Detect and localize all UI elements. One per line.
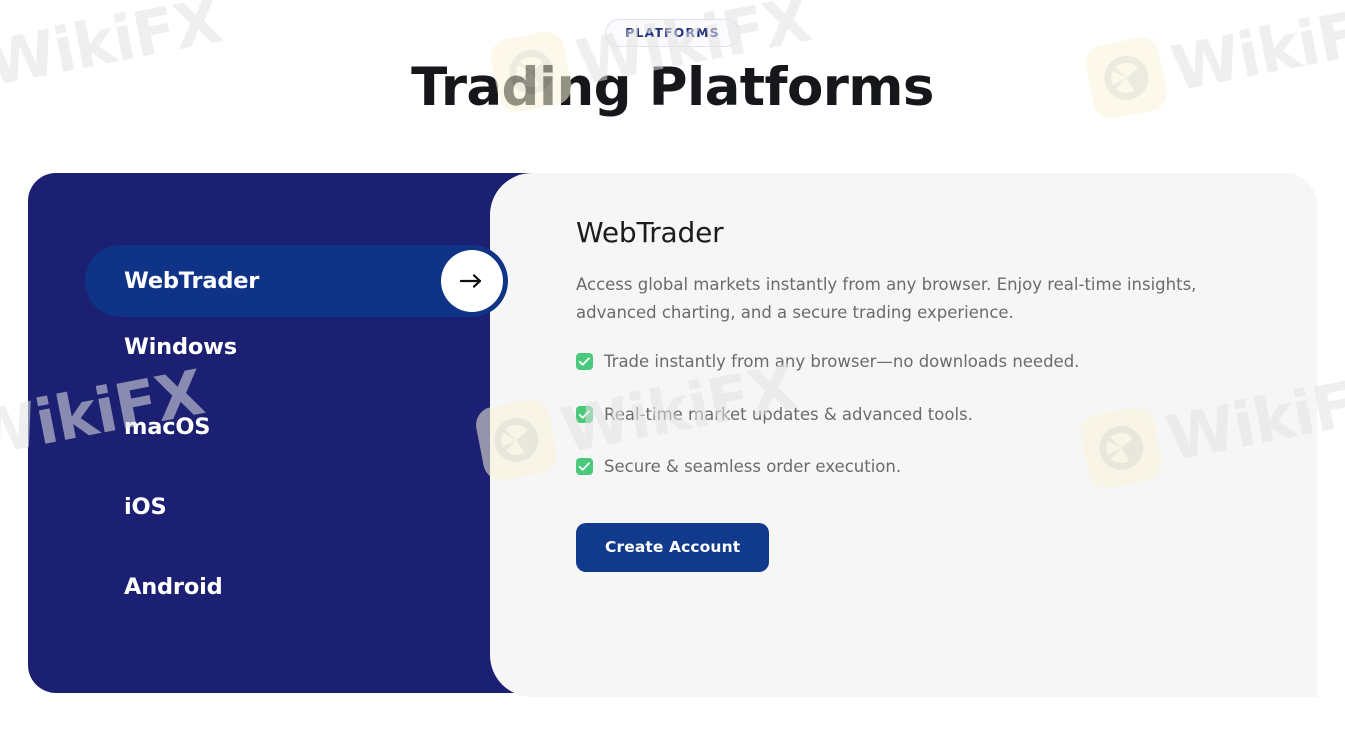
sidebar-item-macos[interactable]: macOS bbox=[28, 405, 528, 449]
platform-detail-content: WebTrader Access global markets instantl… bbox=[576, 216, 1276, 572]
page-title: Trading Platforms bbox=[0, 59, 1345, 116]
sidebar-item-label: iOS bbox=[124, 494, 166, 520]
page-header: PLATFORMS Trading Platforms bbox=[0, 0, 1345, 116]
platform-nav-list: WebTrader Windows macOS iOS Android bbox=[28, 173, 528, 645]
check-square-icon bbox=[576, 406, 593, 423]
sidebar-item-label: Android bbox=[124, 574, 223, 600]
sidebar-item-label: macOS bbox=[124, 414, 210, 440]
detail-title: WebTrader bbox=[576, 216, 1276, 249]
sidebar-item-android[interactable]: Android bbox=[28, 565, 528, 609]
list-item: Secure & seamless order execution. bbox=[576, 457, 1276, 477]
list-item: Real-time market updates & advanced tool… bbox=[576, 405, 1276, 425]
detail-description: Access global markets instantly from any… bbox=[576, 271, 1268, 328]
check-square-icon bbox=[576, 353, 593, 370]
sidebar-item-label: WebTrader bbox=[124, 268, 259, 294]
list-item: Trade instantly from any browser—no down… bbox=[576, 352, 1276, 372]
check-square-icon bbox=[576, 458, 593, 475]
sidebar-item-label: Windows bbox=[124, 334, 237, 360]
sidebar-item-ios[interactable]: iOS bbox=[28, 485, 528, 529]
feature-text: Real-time market updates & advanced tool… bbox=[604, 405, 973, 425]
feature-text: Trade instantly from any browser—no down… bbox=[604, 352, 1079, 372]
feature-text: Secure & seamless order execution. bbox=[604, 457, 901, 477]
section-eyebrow-badge: PLATFORMS bbox=[605, 19, 740, 47]
sidebar-item-windows[interactable]: Windows bbox=[28, 325, 528, 369]
sidebar-item-webtrader[interactable]: WebTrader bbox=[85, 245, 508, 317]
feature-list: Trade instantly from any browser—no down… bbox=[576, 352, 1276, 477]
create-account-button[interactable]: Create Account bbox=[576, 523, 769, 572]
arrow-right-icon[interactable] bbox=[441, 250, 503, 312]
